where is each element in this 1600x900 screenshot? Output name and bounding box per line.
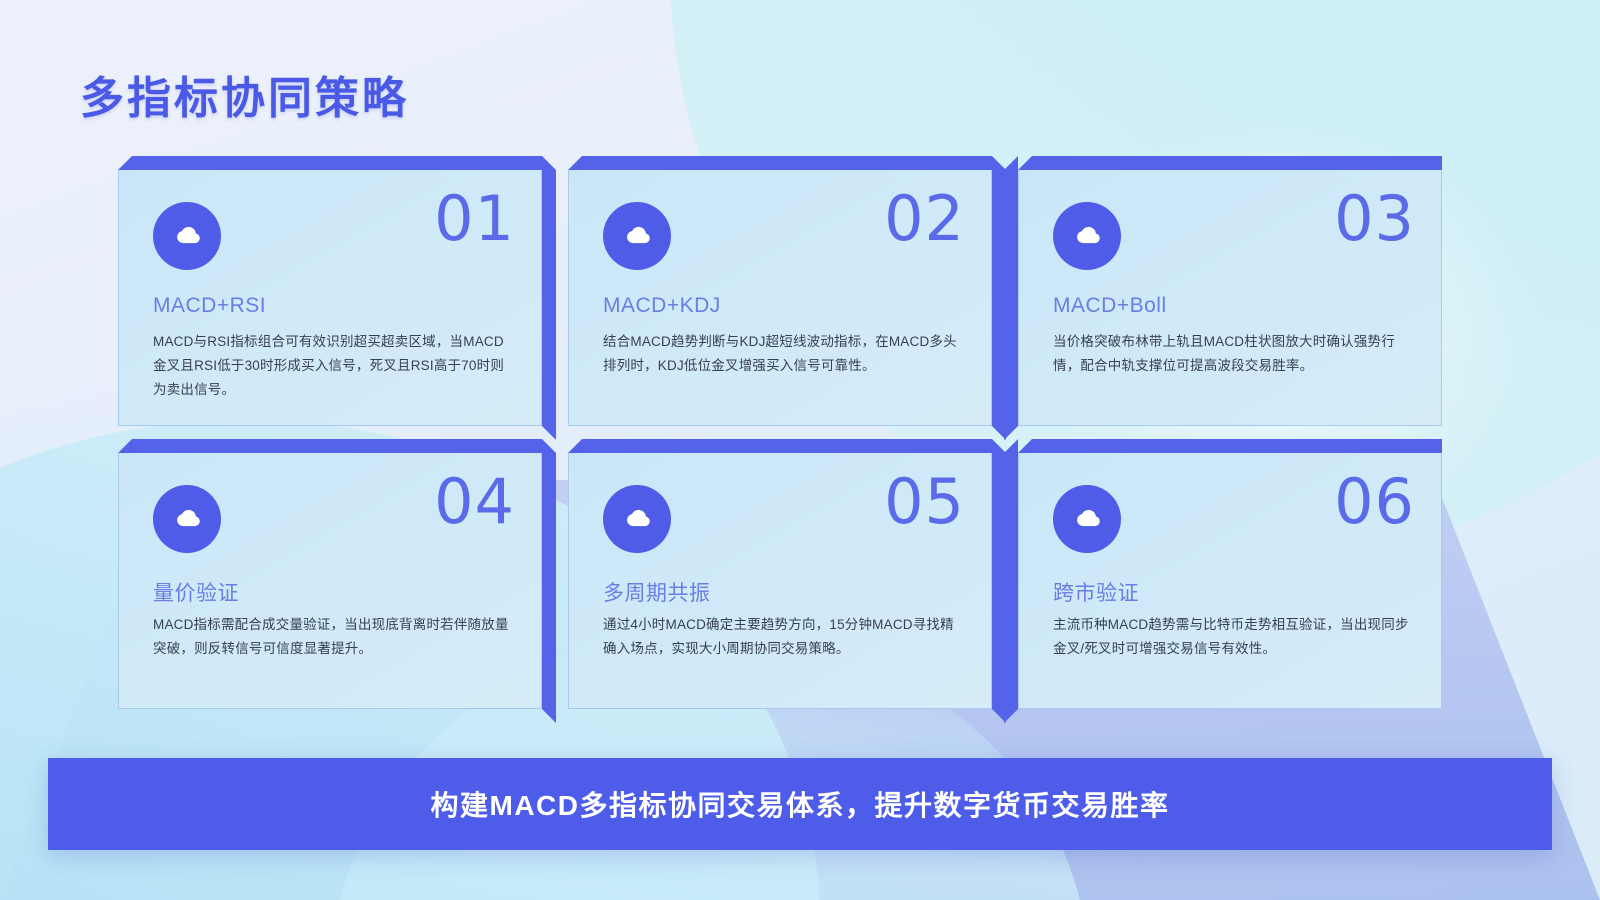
card-body: 05 多周期共振 通过4小时MACD确定主要趋势方向，15分钟MACD寻找精确入… xyxy=(568,453,992,709)
card-side-panel xyxy=(1004,156,1018,440)
strategy-card-06[interactable]: 06 跨市验证 主流币种MACD趋势需与比特币走势相互验证，当出现同步金叉/死叉… xyxy=(1018,439,1442,709)
footer-banner: 构建MACD多指标协同交易体系，提升数字货币交易胜率 xyxy=(48,758,1552,850)
card-title: 量价验证 xyxy=(153,577,239,607)
card-number: 06 xyxy=(1334,471,1415,533)
card-body: 03 MACD+Boll 当价格突破布林带上轨且MACD柱状图放大时确认强势行情… xyxy=(1018,170,1442,426)
footer-text: 构建MACD多指标协同交易体系，提升数字货币交易胜率 xyxy=(431,784,1170,824)
card-body: 01 MACD+RSI MACD与RSI指标组合可有效识别超买超卖区域，当MAC… xyxy=(118,170,542,426)
strategy-card-03[interactable]: 03 MACD+Boll 当价格突破布林带上轨且MACD柱状图放大时确认强势行情… xyxy=(1018,156,1442,426)
card-description: 通过4小时MACD确定主要趋势方向，15分钟MACD寻找精确入场点，实现大小周期… xyxy=(603,613,963,661)
card-top-bevel xyxy=(118,439,542,453)
cloud-icon xyxy=(603,202,671,270)
card-side-panel xyxy=(992,439,1006,723)
card-description: MACD指标需配合成交量验证，当出现底背离时若伴随放量突破，则反转信号可信度显著… xyxy=(153,613,513,661)
card-top-bevel xyxy=(568,156,992,170)
card-body: 06 跨市验证 主流币种MACD趋势需与比特币走势相互验证，当出现同步金叉/死叉… xyxy=(1018,453,1442,709)
card-top-bevel xyxy=(118,156,542,170)
card-number: 03 xyxy=(1334,188,1415,250)
card-description: 当价格突破布林带上轨且MACD柱状图放大时确认强势行情，配合中轨支撑位可提高波段… xyxy=(1053,330,1413,378)
card-top-bevel xyxy=(1018,439,1442,453)
card-title: MACD+KDJ xyxy=(603,294,721,318)
strategy-card-grid: 01 MACD+RSI MACD与RSI指标组合可有效识别超买超卖区域，当MAC… xyxy=(118,156,1478,709)
card-title: MACD+RSI xyxy=(153,294,266,318)
cloud-icon xyxy=(603,485,671,553)
card-title: 跨市验证 xyxy=(1053,577,1139,607)
card-description: 主流币种MACD趋势需与比特币走势相互验证，当出现同步金叉/死叉时可增强交易信号… xyxy=(1053,613,1413,661)
card-title: 多周期共振 xyxy=(603,577,711,607)
strategy-card-05[interactable]: 05 多周期共振 通过4小时MACD确定主要趋势方向，15分钟MACD寻找精确入… xyxy=(568,439,992,709)
card-description: 结合MACD趋势判断与KDJ超短线波动指标，在MACD多头排列时，KDJ低位金叉… xyxy=(603,330,963,378)
card-top-bevel xyxy=(1018,156,1442,170)
card-description: MACD与RSI指标组合可有效识别超买超卖区域，当MACD金叉且RSI低于30时… xyxy=(153,330,513,402)
card-body: 04 量价验证 MACD指标需配合成交量验证，当出现底背离时若伴随放量突破，则反… xyxy=(118,453,542,709)
cloud-icon xyxy=(1053,485,1121,553)
card-number: 05 xyxy=(884,471,965,533)
cloud-icon xyxy=(1053,202,1121,270)
card-side-panel xyxy=(542,156,556,440)
card-body: 02 MACD+KDJ 结合MACD趋势判断与KDJ超短线波动指标，在MACD多… xyxy=(568,170,992,426)
cloud-icon xyxy=(153,202,221,270)
cloud-icon xyxy=(153,485,221,553)
card-number: 01 xyxy=(434,188,515,250)
strategy-card-04[interactable]: 04 量价验证 MACD指标需配合成交量验证，当出现底背离时若伴随放量突破，则反… xyxy=(118,439,542,709)
strategy-card-01[interactable]: 01 MACD+RSI MACD与RSI指标组合可有效识别超买超卖区域，当MAC… xyxy=(118,156,542,426)
card-side-panel xyxy=(992,156,1006,440)
page-title: 多指标协同策略 xyxy=(80,62,409,126)
card-title: MACD+Boll xyxy=(1053,294,1167,318)
card-number: 02 xyxy=(884,188,965,250)
strategy-card-02[interactable]: 02 MACD+KDJ 结合MACD趋势判断与KDJ超短线波动指标，在MACD多… xyxy=(568,156,992,426)
card-number: 04 xyxy=(434,471,515,533)
card-side-panel xyxy=(542,439,556,723)
card-side-panel xyxy=(1004,439,1018,723)
card-top-bevel xyxy=(568,439,992,453)
